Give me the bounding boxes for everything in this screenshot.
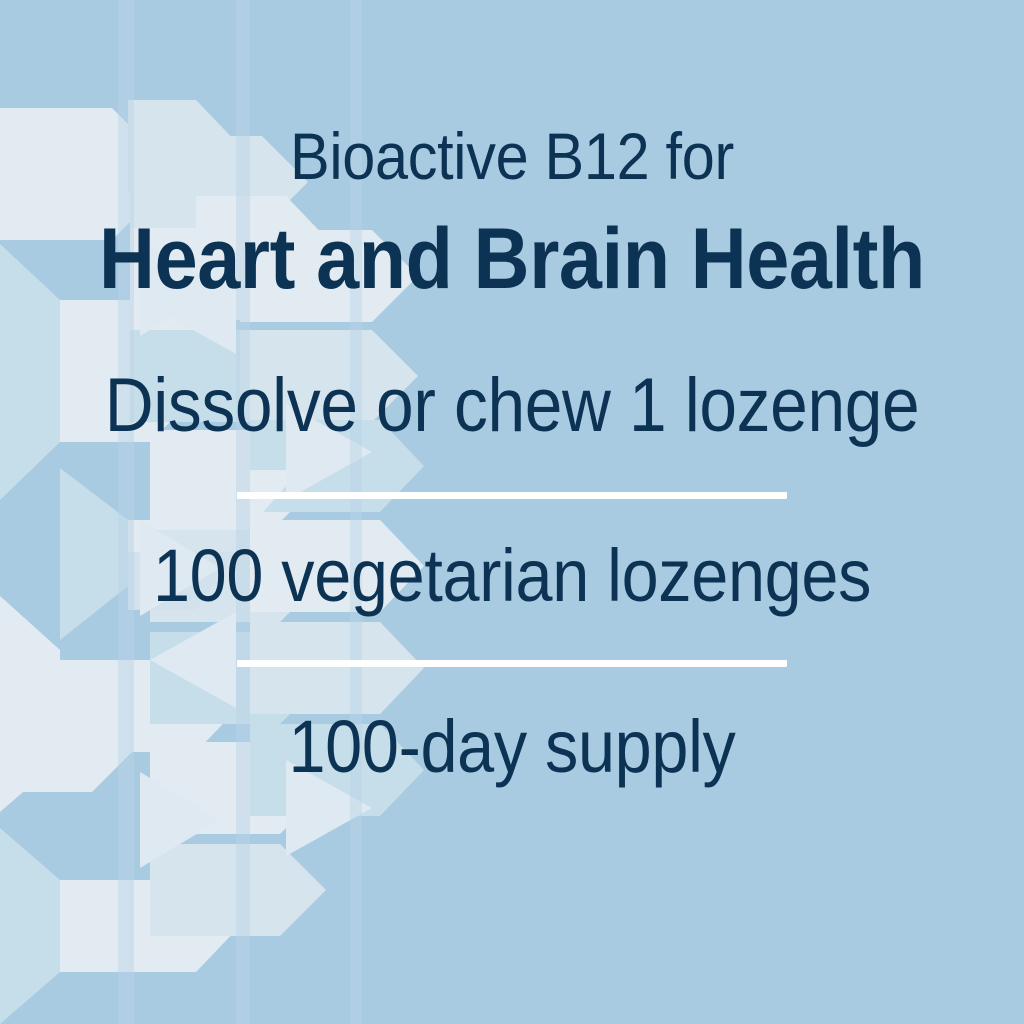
product-info-panel: Bioactive B12 for Heart and Brain Health… <box>0 0 1024 1024</box>
lozenge-count-text: 100 vegetarian lozenges <box>51 539 973 613</box>
supply-duration-text: 100-day supply <box>51 710 973 784</box>
directions-text: Dissolve or chew 1 lozenge <box>56 368 967 444</box>
copy-stack: Bioactive B12 for Heart and Brain Health… <box>0 0 1024 1024</box>
eyebrow-text: Bioactive B12 for <box>51 123 973 189</box>
divider-top <box>237 492 787 499</box>
divider-bottom <box>237 660 787 667</box>
headline-text: Heart and Brain Health <box>51 216 973 302</box>
